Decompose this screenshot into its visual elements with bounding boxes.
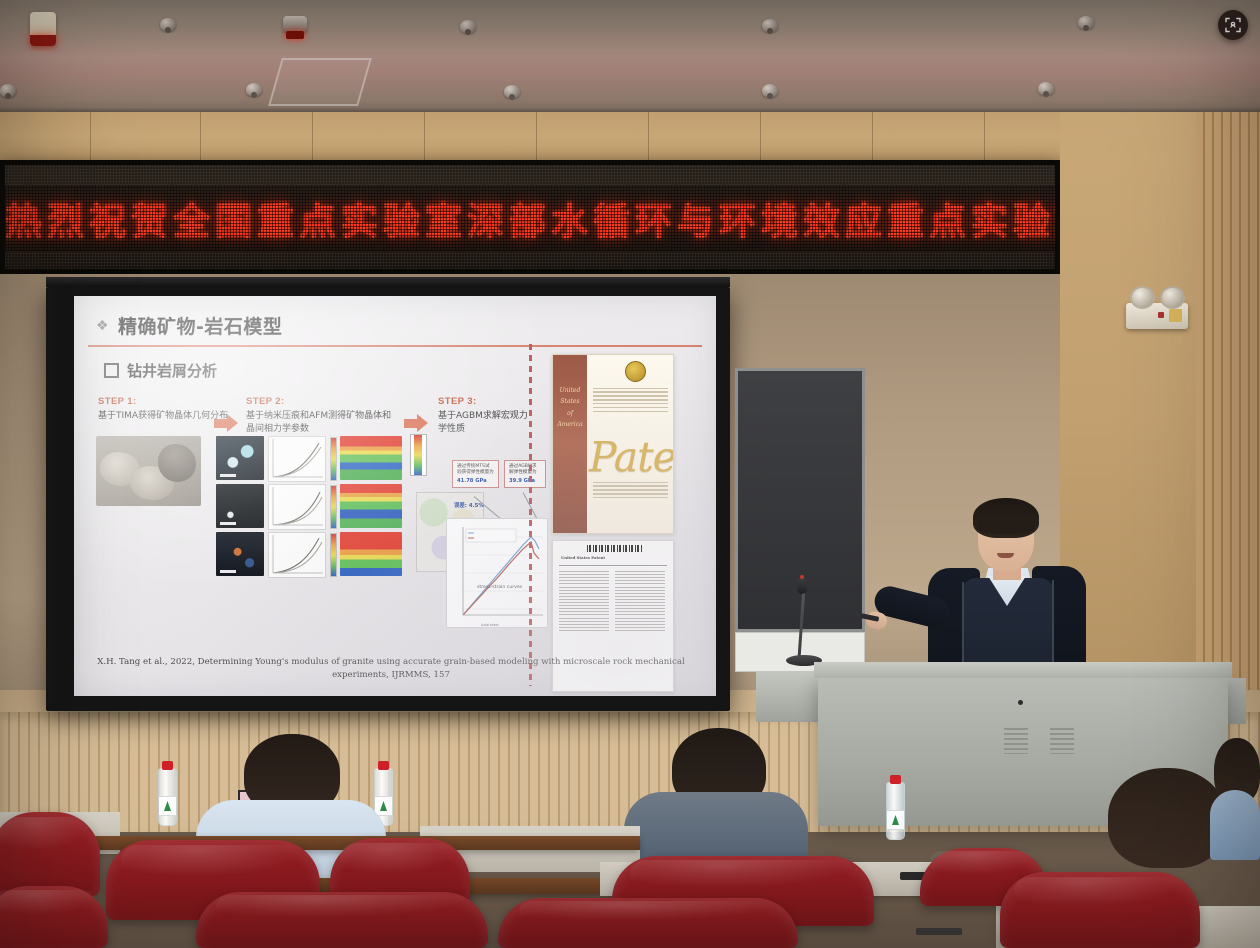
water-bottle: [886, 782, 905, 840]
sprinkler-icon: [1078, 16, 1094, 29]
callout-agbm-text: 通过AGBM求解弹性模量为: [509, 464, 541, 477]
colorbar-1: [330, 437, 337, 481]
presentation-slide: ❖ 精确矿物-岩石模型 钻井岩屑分析 STEP 1: 基于TIMA获得矿物晶体几…: [74, 296, 716, 696]
step-2-text: 基于纳米压痕和AFM测得矿物晶体和晶间相力学参数: [246, 410, 396, 436]
exit-lamp-icon: [30, 12, 56, 46]
indentation-curve-2: [268, 484, 326, 530]
scan-crosshair-button[interactable]: [1218, 10, 1248, 40]
patent-side-band: United States of America: [553, 355, 587, 533]
ceiling: [0, 0, 1260, 118]
step-1-label: STEP 1:: [98, 396, 230, 407]
water-bottle: [158, 768, 177, 826]
step-3: STEP 3: 基于AGBM求解宏观力学性质: [438, 396, 528, 436]
microscopy-image-2: [216, 484, 264, 528]
projection-screen-frame: ❖ 精确矿物-岩石模型 钻井岩屑分析 STEP 1: 基于TIMA获得矿物晶体几…: [46, 287, 730, 711]
plot-xlabel: Axial strain: [481, 623, 499, 627]
led-banner: 热烈祝贺全国重点实验室深部水循环与环境效应重点实验室青年发展论坛: [0, 160, 1060, 274]
afm-heatmap-1: [340, 436, 402, 480]
slide-citation: X.H. Tang et al., 2022, Determining Youn…: [92, 656, 690, 682]
led-banner-text: 热烈祝贺全国重点实验室深部水循环与环境效应重点实验室青年发展论坛: [5, 191, 1055, 245]
step-3-text: 基于AGBM求解宏观力学性质: [438, 410, 528, 436]
colorbar-2: [330, 485, 337, 529]
patent-divider: [529, 344, 532, 686]
audience-chair: [196, 892, 488, 948]
slide-title-row: ❖ 精确矿物-岩石模型: [96, 312, 282, 339]
audience-head: [1108, 768, 1226, 868]
audience-chair: [0, 886, 108, 948]
afm-heatmap-2: [340, 484, 402, 528]
square-bullet-icon: [104, 363, 119, 378]
indentation-curve-3: [268, 532, 326, 578]
emergency-light: [1126, 303, 1188, 329]
sprinkler-icon: [460, 20, 476, 33]
patent-doc-header: United States Patent: [561, 555, 605, 560]
audience-body: [1210, 790, 1260, 860]
audience-chair: [1000, 872, 1200, 948]
colorbar-3: [330, 533, 337, 577]
step-1: STEP 1: 基于TIMA获得矿物晶体几何分布: [98, 396, 230, 423]
sprinkler-icon: [504, 85, 520, 98]
patent-certificate: United States of America Patent: [552, 354, 674, 534]
patent-body-lines: [593, 385, 668, 415]
audience-chair: [0, 812, 100, 896]
rock-sample-photo: [96, 436, 201, 506]
ceiling-vent: [268, 58, 372, 106]
lecture-hall-photo: 热烈祝贺全国重点实验室深部水循环与环境效应重点实验室青年发展论坛 ❖ 精确矿物-…: [0, 0, 1260, 948]
plot-caption: stress-strain curves: [477, 585, 522, 590]
callout-agbm: 通过AGBM求解弹性模量为 39.9 GPa: [504, 460, 546, 488]
callout-agbm-value: 39.9 GPa: [509, 478, 541, 484]
scan-crosshair-icon: [1225, 17, 1241, 33]
barcode-icon: [587, 545, 643, 552]
slide-subheading: 钻井岩屑分析: [127, 360, 217, 381]
patent-word: Patent: [589, 437, 674, 478]
microphone-head-icon: [797, 578, 807, 594]
presenter-hair: [973, 498, 1039, 538]
sprinkler-icon: [762, 19, 778, 32]
audience-chair: [498, 898, 798, 948]
sprinkler-icon: [1038, 82, 1054, 95]
patent-side-text: United States of America: [557, 385, 583, 431]
stress-strain-plot: stress-strain curves Axial strain: [446, 518, 548, 628]
diamond-bullet-icon: ❖: [96, 319, 109, 332]
sprinkler-icon: [762, 84, 778, 97]
microscopy-image-3: [216, 532, 264, 576]
presenter-mouth: [997, 553, 1014, 558]
sprinkler-icon: [0, 84, 16, 97]
pen: [916, 928, 962, 935]
callout-mts-text: 通过传统MTS试验获得弹性模量为: [457, 464, 494, 477]
afm-heatmap-3: [340, 532, 402, 576]
title-divider: [88, 345, 702, 347]
slide-subheading-row: 钻井岩屑分析: [104, 360, 217, 381]
step-2: STEP 2: 基于纳米压痕和AFM测得矿物晶体和晶间相力学参数: [246, 396, 396, 436]
slide-title: 精确矿物-岩石模型: [118, 312, 282, 339]
heatmap-legend: [410, 434, 427, 476]
step-3-label: STEP 3:: [438, 396, 528, 407]
callout-mts: 通过传统MTS试验获得弹性模量为 41.78 GPa: [452, 460, 499, 488]
step-2-label: STEP 2:: [246, 396, 396, 407]
microscopy-image-1: [216, 436, 264, 480]
indentation-curve-1: [268, 436, 326, 482]
sprinkler-icon: [160, 18, 176, 31]
smoke-detector-icon: [283, 16, 307, 32]
patent-seal-icon: [625, 361, 646, 382]
step-1-text: 基于TIMA获得矿物晶体几何分布: [98, 410, 230, 423]
callout-mts-value: 41.78 GPa: [457, 478, 494, 484]
sprinkler-icon: [246, 83, 262, 96]
